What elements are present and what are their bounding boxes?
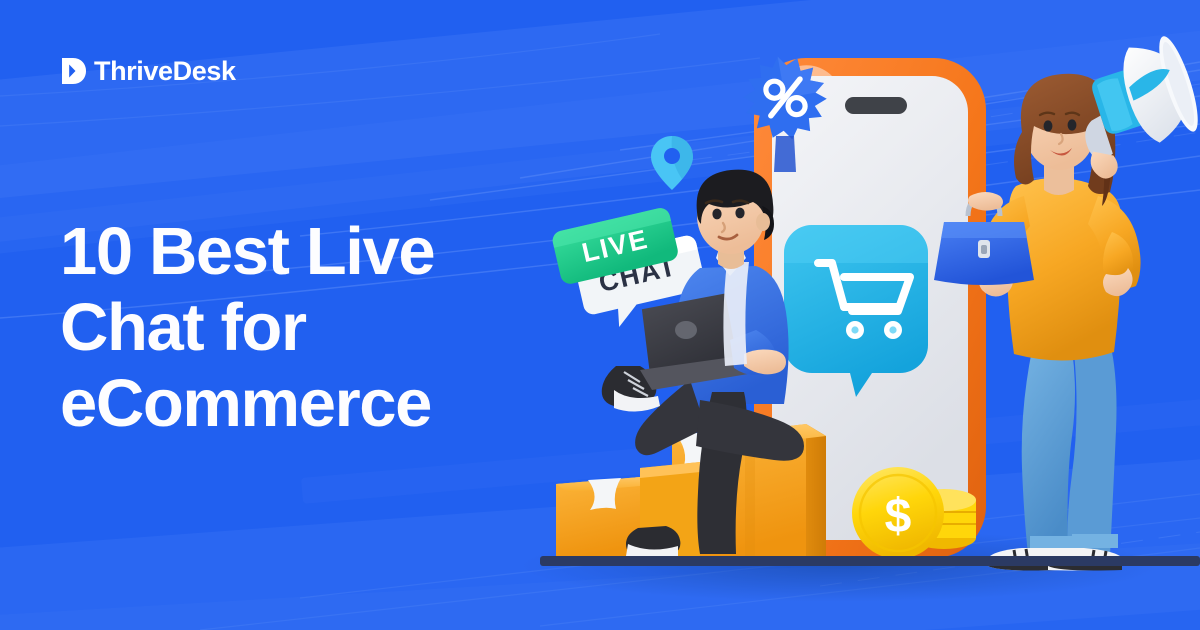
coin-front: $ bbox=[852, 467, 944, 559]
page-title-line-2: Chat for bbox=[60, 290, 580, 366]
location-pin-icon bbox=[651, 136, 693, 190]
woman-leg-back bbox=[1022, 350, 1075, 554]
page-title: 10 Best Live Chat for eCommerce bbox=[60, 214, 580, 442]
man-eye-right bbox=[735, 208, 744, 219]
phone-speaker bbox=[845, 97, 907, 114]
man-eye-left bbox=[712, 209, 721, 220]
coin-currency-symbol: $ bbox=[885, 490, 912, 543]
thrivedesk-d-logo-mark bbox=[60, 56, 87, 86]
shopping-cart-bubble bbox=[784, 225, 928, 397]
man-shoe-right bbox=[626, 526, 680, 560]
woman-eye-right bbox=[1068, 119, 1077, 130]
woman-eye-left bbox=[1044, 120, 1053, 131]
brand-logo[interactable]: ThriveDesk bbox=[60, 56, 236, 86]
page-title-line-3: eCommerce bbox=[60, 366, 580, 442]
page-title-line-1: 10 Best Live bbox=[60, 214, 580, 290]
woman-leg-front bbox=[1068, 352, 1117, 556]
ground-platform bbox=[540, 556, 1200, 566]
brand-name: ThriveDesk bbox=[94, 58, 236, 85]
blog-cover-canvas: ThriveDesk 10 Best Live Chat for eCommer… bbox=[0, 0, 1200, 630]
